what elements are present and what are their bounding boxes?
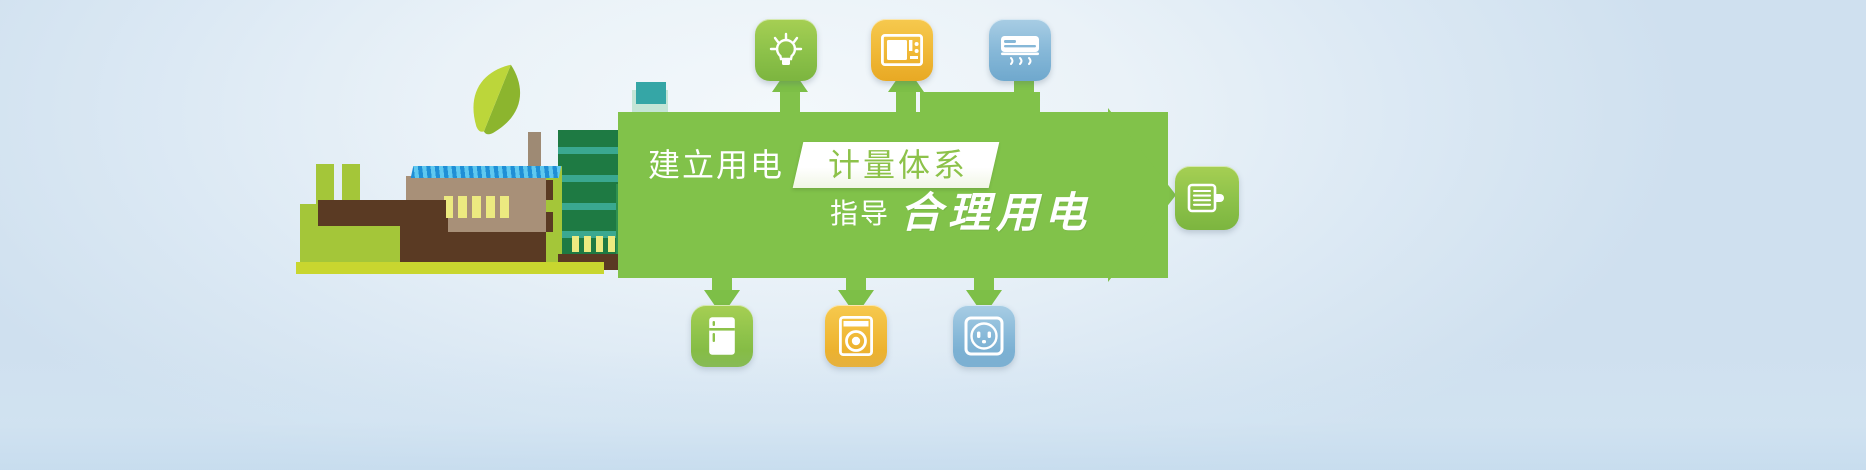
window [596, 236, 603, 252]
air-conditioner-tile[interactable] [989, 19, 1051, 81]
headline-ribbon-text: 计量体系 [828, 149, 968, 181]
energy-metering-banner: 建立用电 计量体系 指导 合理用电 [0, 0, 1866, 470]
window [572, 236, 579, 252]
headline-plain-1: 建立用电 [648, 149, 784, 181]
window [486, 196, 495, 218]
refrigerator-tile[interactable] [691, 305, 753, 367]
power-socket-icon [964, 316, 1004, 356]
branch-stem-socket [974, 258, 994, 292]
headline-calligraphy: 合理用电 [900, 192, 1092, 234]
power-socket-tile[interactable] [953, 305, 1015, 367]
electric-meter-icon [1187, 181, 1227, 215]
small-stack [316, 164, 334, 204]
ground-strip [296, 262, 604, 274]
factory-stripe [558, 175, 624, 182]
factory-wing-left-low [356, 222, 406, 262]
branch-stem-washer [846, 258, 866, 292]
microwave-tile[interactable] [871, 19, 933, 81]
window [472, 196, 481, 218]
branch-stem-bulb [780, 88, 800, 128]
branch-stem-microwave [896, 88, 916, 128]
washing-machine-icon [839, 316, 873, 356]
branch-rail-up-2 [780, 112, 940, 132]
electric-meter-tile[interactable] [1175, 166, 1239, 230]
air-conditioner-icon [999, 33, 1041, 67]
leaf-icon [454, 53, 539, 145]
factory-illustration [296, 58, 616, 274]
headline-line-1: 建立用电 计量体系 [648, 142, 994, 188]
factory-stripe [558, 147, 624, 154]
lightbulb-tile[interactable] [755, 19, 817, 81]
microwave-icon [881, 34, 923, 66]
headline-plain-2: 指导 [830, 200, 890, 234]
chimney [528, 132, 541, 166]
window [584, 236, 591, 252]
small-stack [342, 164, 360, 204]
factory-stripe [558, 203, 624, 210]
refrigerator-icon [708, 316, 736, 356]
branch-stem-fridge [712, 258, 732, 292]
solar-panel-roof [411, 166, 562, 178]
window [500, 196, 509, 218]
lightbulb-icon [766, 30, 806, 70]
washing-machine-tile[interactable] [825, 305, 887, 367]
conveyor-lower [424, 232, 546, 262]
main-arrow-head [1108, 108, 1176, 282]
cooling-tower-cap [636, 82, 666, 104]
window [458, 196, 467, 218]
headline-line-2: 指导 合理用电 [830, 192, 1092, 234]
headline-ribbon: 计量体系 [793, 142, 1000, 188]
window [608, 236, 615, 252]
